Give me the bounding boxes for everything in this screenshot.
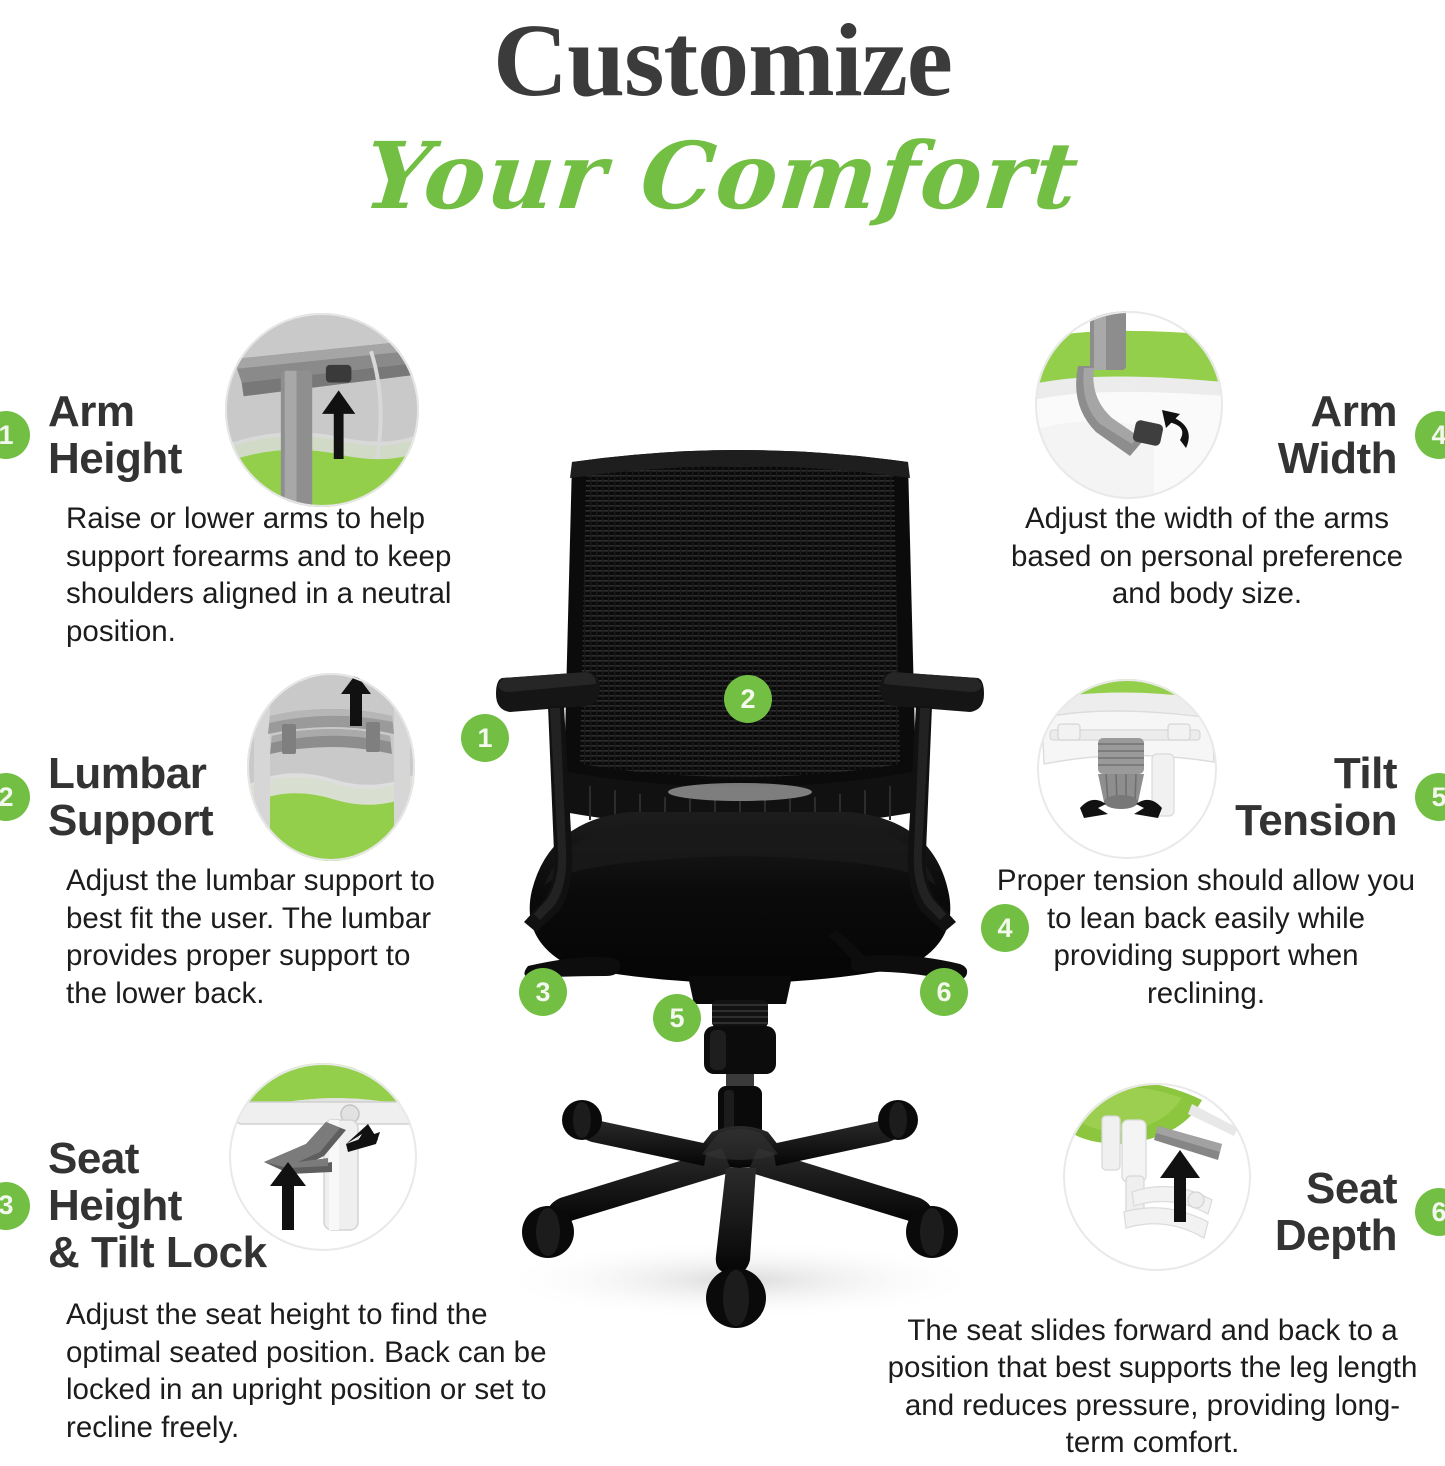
- seat-depth-illustration: [1062, 1082, 1252, 1272]
- heading-line-2: Width: [1278, 435, 1397, 482]
- feature-seat-depth-heading: Seat Depth: [1275, 1165, 1397, 1259]
- heading-line-2: Depth: [1275, 1212, 1397, 1259]
- feature-badge-6: 6: [1415, 1188, 1445, 1236]
- chair-callout-3: 3: [519, 968, 567, 1016]
- feature-tilt-tension-body: Proper tension should allow you to lean …: [991, 862, 1421, 1012]
- feature-arm-width-heading: Arm Width: [1278, 388, 1397, 482]
- feature-badge-2: 2: [0, 773, 30, 821]
- heading-line-2: Support: [48, 797, 213, 844]
- heading-line-1: Seat: [1275, 1165, 1397, 1212]
- feature-lumbar-support-heading: Lumbar Support: [48, 750, 213, 844]
- heading-line-2: Height: [48, 435, 182, 482]
- arm-height-illustration: [224, 312, 420, 508]
- heading-line-3: & Tilt Lock: [48, 1229, 267, 1276]
- arm-width-illustration: [1034, 310, 1224, 500]
- title-main-text: Customize: [0, 8, 1445, 114]
- feature-arm-width-body: Adjust the width of the arms based on pe…: [997, 500, 1417, 612]
- tilt-tension-illustration: [1036, 678, 1218, 860]
- heading-line-1: Tilt: [1235, 750, 1397, 797]
- infographic-page: Customize Your Comfort 1 Arm Height Rais…: [0, 0, 1445, 1466]
- page-title: Customize Your Comfort: [0, 8, 1445, 222]
- heading-line-1: Arm: [48, 388, 182, 435]
- seat-height-tilt-lock-illustration: [228, 1062, 418, 1252]
- feature-arm-height-body: Raise or lower arms to help support fore…: [66, 500, 476, 650]
- chair-callout-6: 6: [920, 968, 968, 1016]
- heading-line-1: Lumbar: [48, 750, 213, 797]
- feature-arm-height-heading: Arm Height: [48, 388, 182, 482]
- feature-badge-5: 5: [1415, 773, 1445, 821]
- feature-badge-1: 1: [0, 411, 30, 459]
- feature-tilt-tension-heading: Tilt Tension: [1235, 750, 1397, 844]
- title-script-text: Your Comfort: [361, 130, 1085, 222]
- chair-callout-1: 1: [461, 714, 509, 762]
- heading-line-1: Arm: [1278, 388, 1397, 435]
- office-chair-product-image: [440, 420, 1040, 1350]
- chair-callout-5: 5: [653, 994, 701, 1042]
- feature-badge-3: 3: [0, 1182, 30, 1230]
- lumbar-support-illustration: [246, 672, 416, 862]
- chair-callout-4: 4: [981, 904, 1029, 952]
- feature-lumbar-support-body: Adjust the lumbar support to best fit th…: [66, 862, 456, 1012]
- feature-badge-4: 4: [1415, 411, 1445, 459]
- heading-line-2: Tension: [1235, 797, 1397, 844]
- chair-callout-2: 2: [724, 675, 772, 723]
